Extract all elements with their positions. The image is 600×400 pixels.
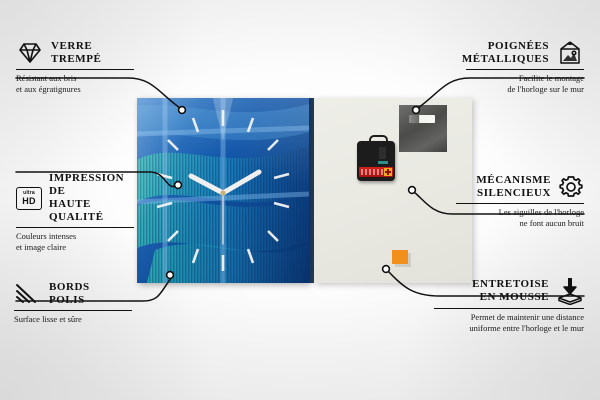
callout-rule [14,310,132,311]
mechanism-shaft [379,147,386,159]
hanger-slot [409,115,435,123]
metal-hanger-plate [399,105,447,152]
callout-rule [434,308,584,309]
callout-desc-line2: et image claire [16,242,134,253]
callout-desc-line1: Surface lisse et sûre [14,314,132,325]
callout-title-line2: POLIS [49,294,90,307]
product-image [137,98,472,283]
callout-verre-trempe[interactable]: VERRE TREMPÉ Résistant aux bris et aux é… [16,40,134,95]
callout-desc-line2: et aux égratignures [16,84,134,95]
callout-desc-line2: de l'horloge sur le mur [466,84,584,95]
callout-desc-line1: Résistant aux bris [16,73,134,84]
callout-title-line1: ENTRETOISE [472,278,549,291]
callout-rule [16,69,134,70]
callout-title-line1: POIGNÉES [462,40,549,53]
callout-title-line2: MÉTALLIQUES [462,53,549,66]
clock-hands [137,98,309,283]
framed-picture-hanging-icon [556,40,584,66]
hd-text: HD [22,197,35,206]
clock-mechanism [357,141,395,181]
callout-title-line2: TREMPÉ [51,53,101,66]
callout-desc-line1: Facilite le montage [466,73,584,84]
mechanism-detail [378,161,388,164]
mechanism-loop [369,135,388,147]
callout-rule [16,227,134,228]
foam-spacer [392,250,408,264]
callout-rule [456,203,584,204]
ultra-text: ultra [23,191,35,196]
callout-desc-line1: Permet de maintenir une distance [434,312,584,323]
callout-title-line1: MÉCANISME [476,174,551,187]
callout-title-line2: SILENCIEUX [476,187,551,200]
callout-rule [466,69,584,70]
battery [359,167,393,177]
ultra-hd-badge-icon: ultra HD [16,187,42,210]
clock-back-panel [314,98,472,283]
polished-edges-icon [14,283,42,305]
callout-title-line2: EN MOUSSE [472,291,549,304]
battery-plus-terminal [384,168,392,176]
callout-poignees-metalliques[interactable]: POIGNÉES MÉTALLIQUES Facilite le montage… [466,40,584,95]
diamond-icon [16,41,44,65]
callout-title-line2: HAUTE QUALITÉ [49,198,134,224]
callout-desc-line1: Couleurs intenses [16,231,134,242]
callout-desc-line2: ne font aucun bruit [456,218,584,229]
gear-icon [558,174,584,200]
callout-entretoise-en-mousse[interactable]: ENTRETOISE EN MOUSSE Permet de maintenir… [434,277,584,334]
clock-front-panel [137,98,309,283]
callout-title-line1: VERRE [51,40,101,53]
infographic-canvas: VERRE TREMPÉ Résistant aux bris et aux é… [0,0,600,400]
callout-mecanisme-silencieux[interactable]: MÉCANISME SILENCIEUX Les aiguilles de l'… [456,174,584,229]
callout-desc-line1: Les aiguilles de l'horloge [456,207,584,218]
callout-title-line1: BORDS [49,281,90,294]
callout-impression-haute-qualite[interactable]: ultra HD IMPRESSION DE HAUTE QUALITÉ Cou… [16,172,134,253]
arrow-into-foam-layers-icon [556,277,584,305]
callout-bords-polis[interactable]: BORDS POLIS Surface lisse et sûre [14,281,132,325]
callout-title-line1: IMPRESSION DE [49,172,134,198]
battery-label [361,169,385,175]
callout-desc-line2: uniforme entre l'horloge et le mur [434,323,584,334]
